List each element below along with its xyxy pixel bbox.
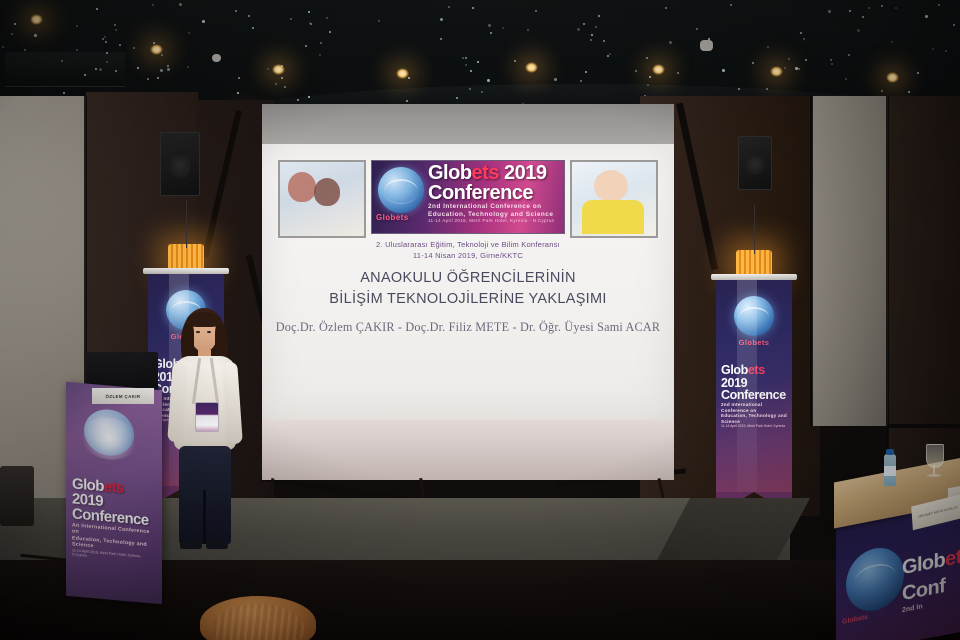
globe-logo-icon [846, 543, 904, 616]
slide-subtitle-line-2: 11-14 Nisan 2019, Girne/KKTC [262, 251, 674, 262]
banner-line-conference: Conference [721, 389, 788, 402]
banner-line-venue: 11-14 April 2019, Merit Park Hotel, Kyre… [428, 218, 560, 224]
globe-logo-icon [734, 296, 774, 336]
brand-ets: ets [104, 478, 124, 497]
wine-glass [926, 444, 944, 468]
wall-seam [810, 96, 813, 426]
conference-photo-scene: Globets Globets 2019 Conference 2nd Inte… [0, 0, 960, 640]
child-drawing-photo [570, 160, 658, 238]
speaker-name-plate: ÖZLEM ÇAKIR [92, 388, 154, 404]
screen-top-band [262, 104, 674, 146]
banner-line-subtitle-2: Education, Technology and Science [721, 413, 788, 424]
wall-panel-right-light [812, 96, 892, 426]
presenter-person [170, 308, 240, 553]
ceiling-vent [5, 52, 125, 87]
wall-seam [888, 424, 960, 428]
smoke-detector-icon [700, 40, 713, 51]
presentation-slide: Globets Globets 2019 Conference 2nd Inte… [262, 144, 674, 422]
brand-ets: ets [945, 544, 960, 571]
ceiling-spotlight [272, 64, 285, 75]
slide-header-row: Globets Globets 2019 Conference 2nd Inte… [278, 160, 658, 234]
ceiling-spotlight [396, 68, 409, 79]
wall-speaker-right [738, 136, 772, 190]
brand-glob: Glob [428, 162, 472, 184]
banner-text-block: Globets 2019 Conference 2nd Internationa… [428, 163, 560, 224]
banner-line-subtitle-2: Education, Technology and Science [428, 211, 560, 219]
brand-ets: ets [748, 363, 765, 377]
projection-screen: Globets Globets 2019 Conference 2nd Inte… [262, 104, 674, 474]
banner-line-subtitle-1: 2nd International Conference on [721, 402, 788, 413]
brand-year: 2019 [504, 162, 547, 184]
ceiling-spotlight [525, 62, 538, 73]
lamp-cord [186, 200, 187, 248]
shoe [206, 540, 228, 549]
ceiling-fixture [212, 54, 221, 62]
globe-logo-icon [378, 167, 424, 213]
shoe [180, 540, 202, 549]
speaker-name-text: ÖZLEM ÇAKIR [106, 394, 141, 399]
screen-bottom-band [262, 420, 674, 480]
glass-base [927, 474, 941, 477]
wall-speaker-left [160, 132, 200, 196]
bottle-label [884, 466, 896, 476]
trouser-gap [203, 490, 206, 544]
globets-conference-banner: Globets Globets 2019 Conference 2nd Inte… [371, 160, 565, 234]
ceiling-spotlight [150, 44, 163, 55]
ceiling-spotlight [652, 64, 665, 75]
banner-text-block: Globets 2019 Conference 2nd Internationa… [721, 364, 788, 429]
eye [207, 331, 211, 333]
bottle-cap [886, 449, 894, 455]
ceiling-spotlight [770, 66, 783, 77]
globets-wordmark: Globets [716, 338, 792, 347]
banner-line-subtitle-1: 2nd International Conference on [428, 203, 560, 211]
banner-line-venue: 11-14 April 2019, Merit Park Hotel, Kyre… [721, 424, 788, 428]
banner-line-conference: Conference [428, 183, 560, 203]
slide-title-line-2: BİLİŞİM TEKNOLOJİLERİNE YAKLAŞIMI [262, 289, 674, 310]
head-table: Globets Globets Conf 2nd In MEHMET METE … [836, 470, 960, 640]
banner-line-brand: Globets 2019 [428, 163, 560, 183]
name-card-text: MEHMET METE ARSLAN [918, 505, 958, 519]
banner-line-brand: Globets 2019 [721, 364, 788, 389]
banner-body: Globets Globets 2019 Conference 2nd Inte… [716, 280, 792, 492]
children-at-desk-photo [278, 160, 366, 238]
slide-authors: Doç.Dr. Özlem ÇAKIR - Doç.Dr. Filiz METE… [262, 320, 674, 335]
slide-title: ANAOKULU ÖĞRENCİLERİNİN BİLİŞİM TEKNOLOJ… [262, 268, 674, 310]
conference-badge [195, 402, 219, 432]
podium-banner-stand: Globets 2019 Conference An International… [66, 382, 162, 604]
table-line-conference: Conf [902, 575, 945, 606]
globets-wordmark: Globets [376, 213, 409, 222]
ceiling-spotlight [30, 14, 43, 25]
brand-ets: ets [472, 162, 499, 184]
brand-glob: Glob [902, 549, 945, 579]
lamp-cord [754, 204, 755, 254]
ceiling-spotlight [886, 72, 899, 83]
wall-seam [886, 96, 889, 496]
podium-text-block: Globets 2019 Conference An International… [72, 476, 158, 564]
slide-title-line-1: ANAOKULU ÖĞRENCİLERİNİN [262, 268, 674, 289]
table-line-brand: Globets [902, 544, 960, 581]
globets-wordmark: Globets [842, 614, 868, 626]
wall-panel-far-right-dark [888, 96, 960, 496]
slide-subtitle: 2. Uluslararası Eğitim, Teknoloji ve Bil… [262, 240, 674, 261]
slide-subtitle-line-1: 2. Uluslararası Eğitim, Teknoloji ve Bil… [262, 240, 674, 251]
chair [0, 466, 34, 526]
eye [196, 331, 200, 333]
